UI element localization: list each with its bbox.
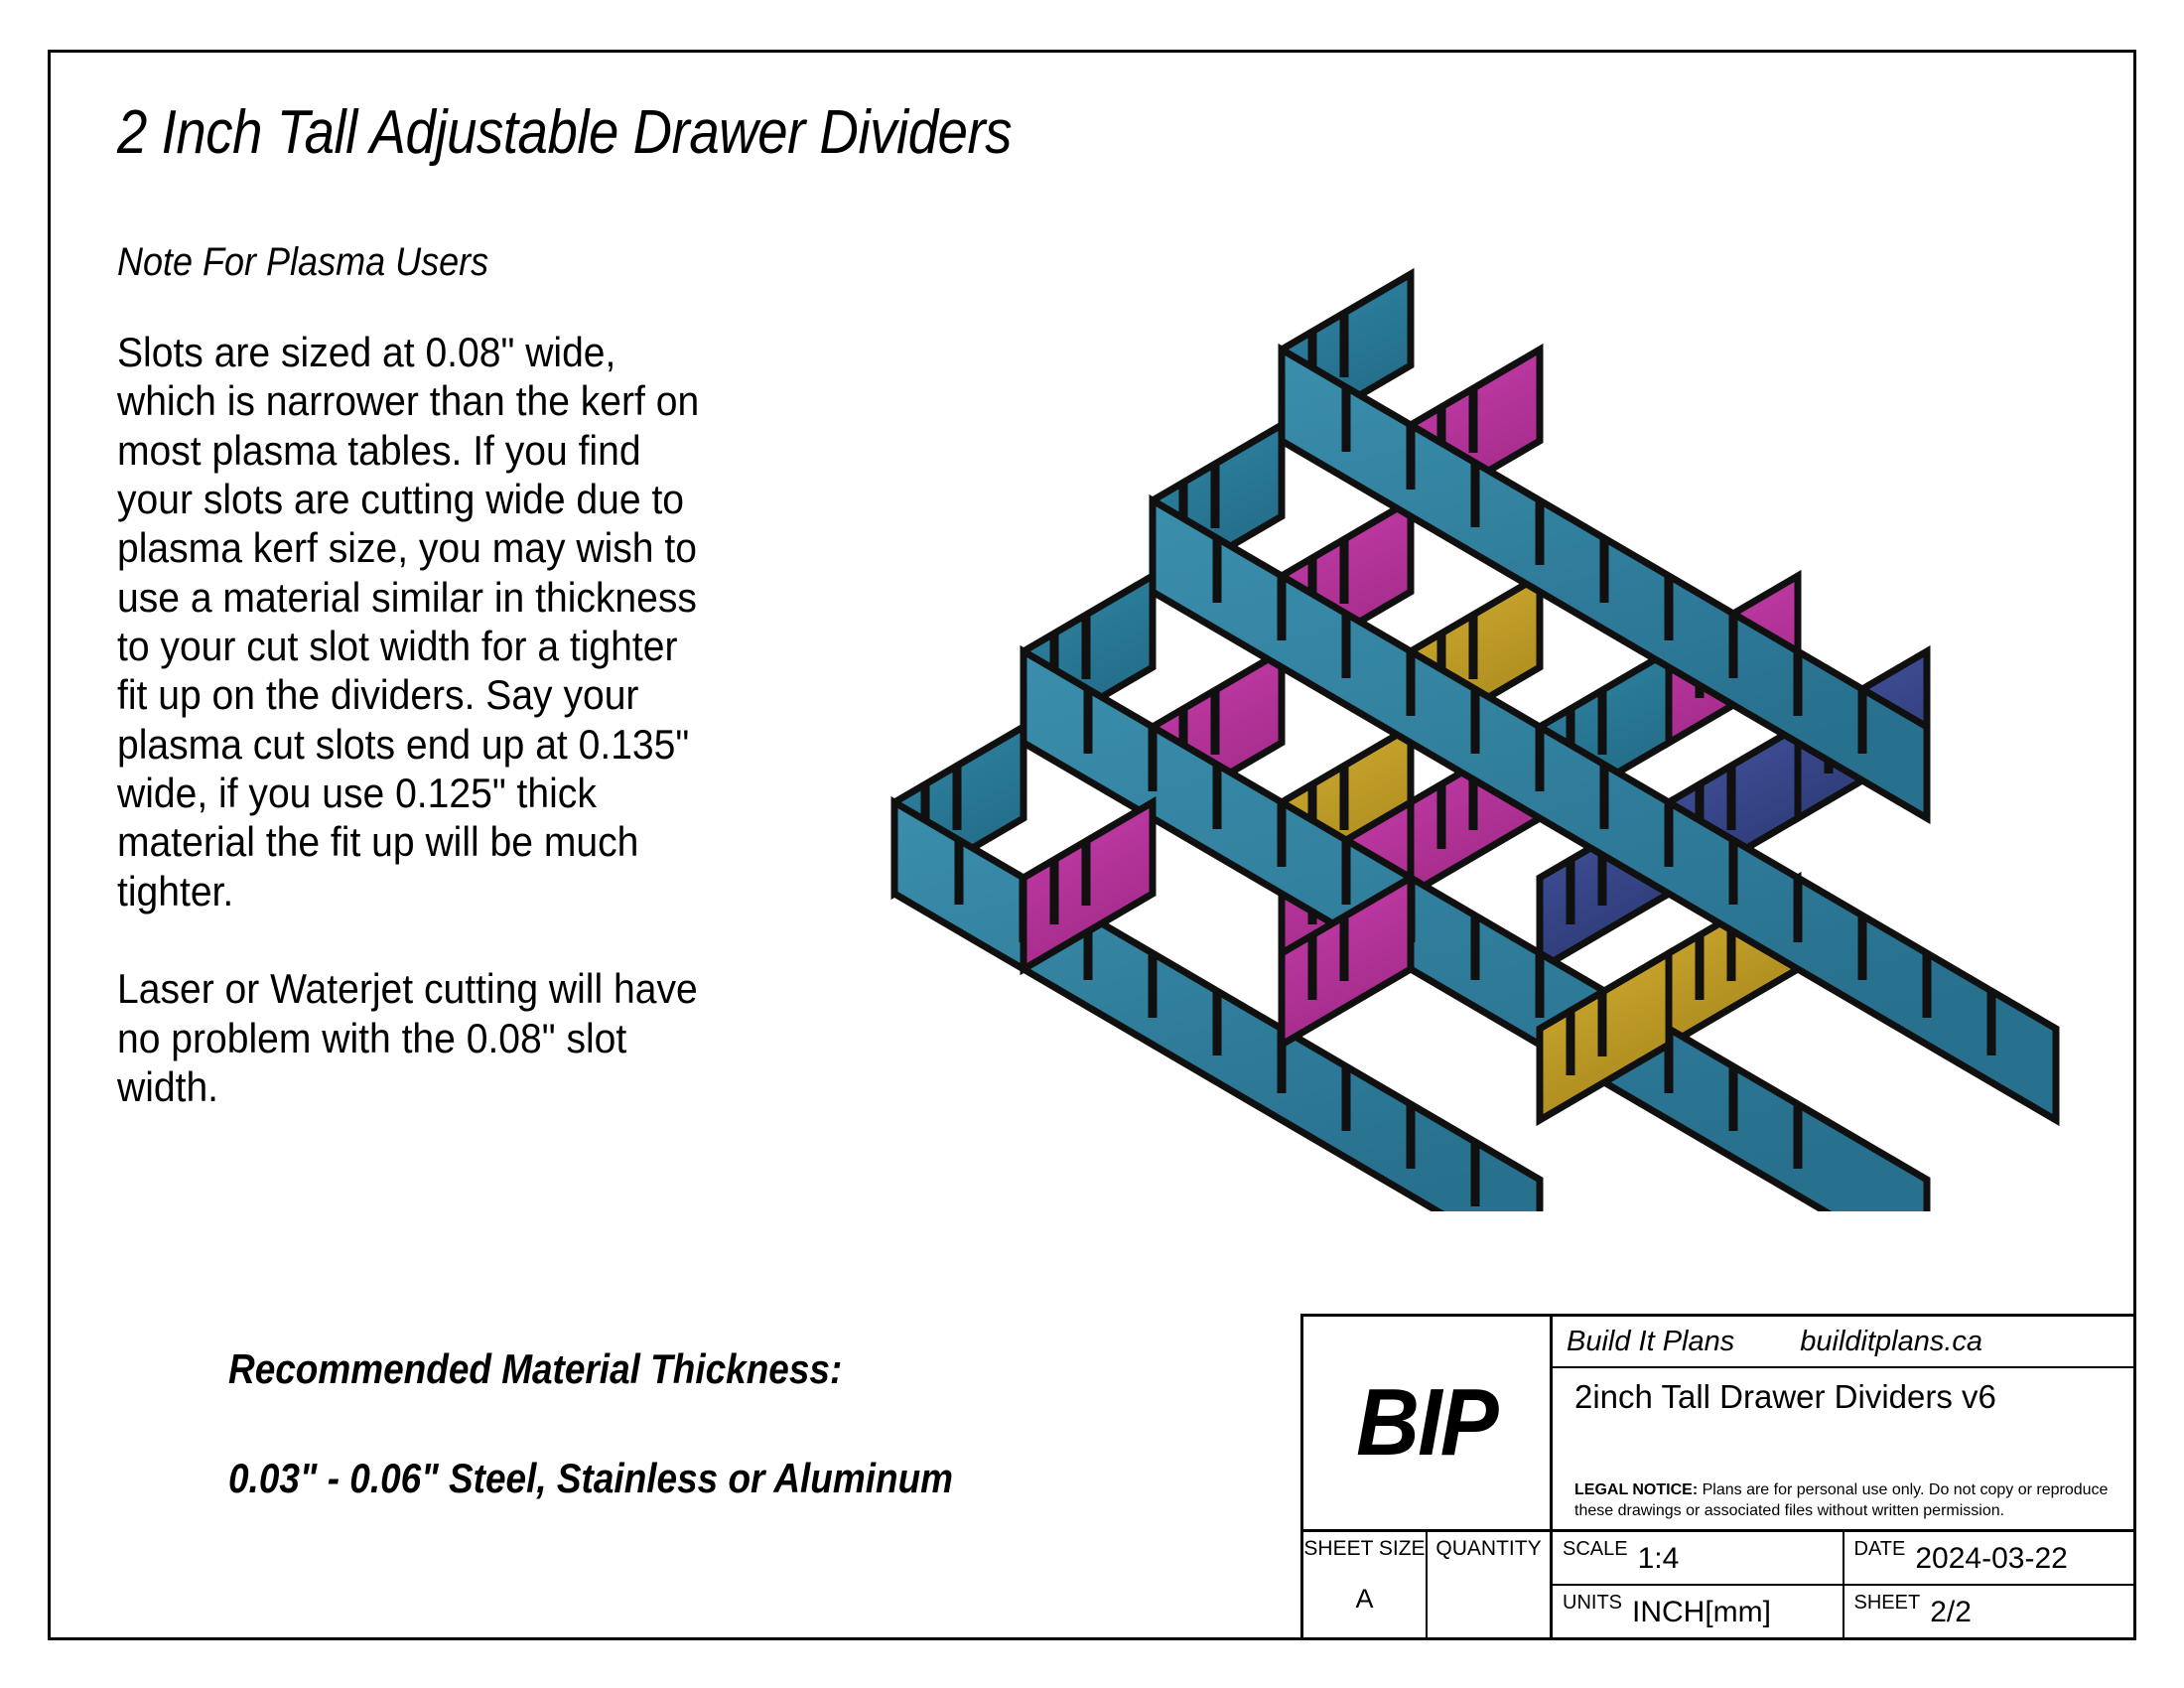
material-thickness-label: Recommended Material Thickness: (228, 1345, 1120, 1393)
date-label: DATE (1854, 1536, 1906, 1559)
scale-date-row: SCALE 1:4 DATE 2024-03-22 (1553, 1532, 2133, 1586)
title-block-upper: BIP Build It Plans builditplans.ca 2inch… (1303, 1317, 2133, 1532)
units-value: INCH[mm] (1632, 1598, 1771, 1627)
title-block-lower: SHEET SIZE A QUANTITY SCALE 1:4 DATE 202… (1303, 1532, 2133, 1637)
website-url[interactable]: builditplans.ca (1800, 1326, 1982, 1358)
units-label: UNITS (1563, 1590, 1622, 1613)
sheet-quantity-group: SHEET SIZE A QUANTITY (1303, 1532, 1553, 1637)
page-title: 2 Inch Tall Adjustable Drawer Dividers (117, 97, 1078, 168)
bip-logo: BIP (1356, 1368, 1497, 1477)
company-name: Build It Plans (1567, 1326, 1734, 1358)
quantity-cell: QUANTITY (1428, 1532, 1550, 1637)
brand-row: Build It Plans builditplans.ca (1553, 1317, 2133, 1368)
units-sheet-row: UNITS INCH[mm] SHEET 2/2 (1553, 1586, 2133, 1637)
scale-label: SCALE (1563, 1536, 1628, 1559)
date-cell: DATE 2024-03-22 (1844, 1532, 2134, 1584)
units-cell: UNITS INCH[mm] (1553, 1586, 1844, 1637)
sheet-label: SHEET (1854, 1590, 1921, 1613)
drawing-title: 2inch Tall Drawer Dividers v6 (1574, 1378, 2119, 1416)
material-thickness-value: 0.03" - 0.06" Steel, Stainless or Alumin… (228, 1455, 1120, 1502)
sheet-cell: SHEET 2/2 (1844, 1586, 2134, 1637)
sheet-size-value: A (1303, 1584, 1426, 1615)
note-paragraph-1: Slots are sized at 0.08" wide, which is … (117, 328, 708, 915)
description-area: 2inch Tall Drawer Dividers v6 LEGAL NOTI… (1553, 1368, 2133, 1529)
note-heading: Note For Plasma Users (117, 240, 743, 285)
note-body: Slots are sized at 0.08" wide, which is … (117, 328, 708, 1160)
scale-value: 1:4 (1638, 1544, 1680, 1574)
note-paragraph-2: Laser or Waterjet cutting will have no p… (117, 964, 708, 1111)
legal-notice: LEGAL NOTICE: Plans are for personal use… (1574, 1479, 2119, 1522)
scale-date-units-sheet-group: SCALE 1:4 DATE 2024-03-22 UNITS INCH[mm]… (1553, 1532, 2133, 1637)
scale-cell: SCALE 1:4 (1553, 1532, 1844, 1584)
isometric-assembly-drawing (854, 238, 2085, 1211)
sheet-value: 2/2 (1930, 1598, 1972, 1627)
sheet-size-cell: SHEET SIZE A (1303, 1532, 1428, 1637)
date-value: 2024-03-22 (1915, 1544, 2067, 1574)
material-thickness-callout: Recommended Material Thickness: 0.03" - … (228, 1345, 1120, 1502)
logo-cell: BIP (1303, 1317, 1553, 1529)
title-block: BIP Build It Plans builditplans.ca 2inch… (1300, 1314, 2136, 1640)
sheet-size-label: SHEET SIZE (1303, 1537, 1426, 1561)
legal-notice-label: LEGAL NOTICE: (1574, 1481, 1698, 1498)
quantity-label: QUANTITY (1428, 1537, 1550, 1561)
title-block-right: Build It Plans builditplans.ca 2inch Tal… (1553, 1317, 2133, 1529)
